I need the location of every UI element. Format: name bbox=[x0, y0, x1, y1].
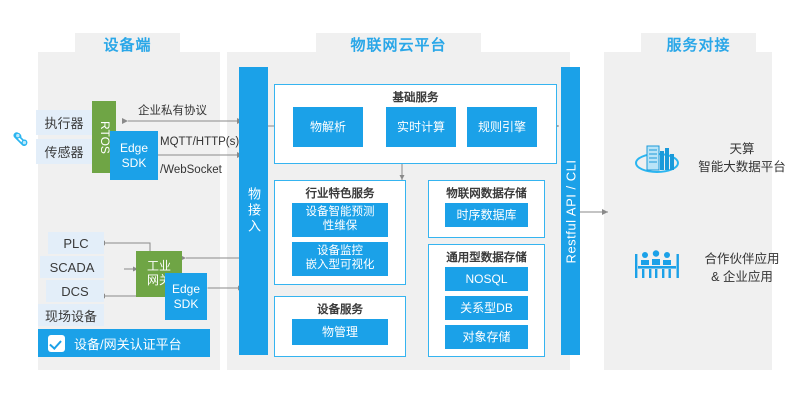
label-private-protocol: 企业私有协议 bbox=[138, 102, 207, 118]
service-entry-line1: 天算 bbox=[690, 140, 794, 158]
service-entry-label-bigdata: 天算 智能大数据平台 bbox=[690, 140, 802, 176]
group-device-service: 设备服务 物管理 bbox=[274, 296, 406, 357]
group-general-storage-title: 通用型数据存储 bbox=[429, 249, 544, 265]
panel-service-side bbox=[604, 52, 772, 370]
group-device-service-title: 设备服务 bbox=[275, 301, 405, 317]
service-entry-line2: & 企业应用 bbox=[690, 268, 794, 286]
cloud-link-icon bbox=[10, 127, 34, 151]
service-realtime-compute[interactable]: 实时计算 bbox=[386, 107, 456, 147]
storage-object-storage[interactable]: 对象存储 bbox=[445, 325, 528, 349]
group-base-service: 基础服务 物解析 实时计算 规则引擎 bbox=[274, 84, 557, 164]
egress-bar-restful-api[interactable]: Restful API / CLI bbox=[561, 67, 580, 355]
device-endpoint-actuator[interactable]: 执行器 bbox=[36, 110, 92, 135]
service-predictive-maintenance[interactable]: 设备智能预测 性维保 bbox=[292, 203, 388, 237]
auth-platform-label: 设备/网关认证平台 bbox=[74, 334, 182, 353]
storage-timeseries-db[interactable]: 时序数据库 bbox=[445, 203, 528, 227]
service-rule-engine[interactable]: 规则引擎 bbox=[467, 107, 537, 147]
service-thing-parse[interactable]: 物解析 bbox=[293, 107, 363, 147]
source-field-device[interactable]: 现场设备 bbox=[38, 304, 104, 326]
edge-sdk-gateway-box[interactable]: Edge SDK bbox=[165, 273, 207, 320]
device-endpoint-sensor[interactable]: 传感器 bbox=[36, 139, 92, 164]
source-scada[interactable]: SCADA bbox=[40, 256, 104, 278]
edge-sdk-device-box[interactable]: Edge SDK bbox=[110, 131, 158, 180]
device-auth-platform-bar[interactable]: 设备/网关认证平台 bbox=[38, 329, 210, 357]
label-websocket: /WebSocket bbox=[160, 164, 222, 176]
service-device-monitor-visualization[interactable]: 设备监控 嵌入型可视化 bbox=[292, 242, 388, 276]
service-thing-management[interactable]: 物管理 bbox=[292, 319, 388, 345]
diagram-canvas: 设备端 物联网云平台 服务对接 bbox=[0, 0, 802, 411]
check-icon bbox=[48, 335, 65, 352]
group-industry-service-title: 行业特色服务 bbox=[275, 185, 405, 201]
section-title-service: 服务对接 bbox=[641, 33, 756, 59]
service-entry-line2: 智能大数据平台 bbox=[690, 158, 794, 176]
group-industry-service: 行业特色服务 设备智能预测 性维保 设备监控 嵌入型可视化 bbox=[274, 180, 406, 285]
group-iot-storage: 物联网数据存储 时序数据库 bbox=[428, 180, 545, 238]
ingress-bar-label: 物接入 bbox=[244, 187, 263, 235]
group-general-storage: 通用型数据存储 NOSQL 关系型DB 对象存储 bbox=[428, 244, 545, 357]
egress-bar-label: Restful API / CLI bbox=[563, 159, 578, 263]
source-dcs[interactable]: DCS bbox=[46, 280, 104, 302]
group-iot-storage-title: 物联网数据存储 bbox=[429, 185, 544, 201]
ingress-bar-iot-hub[interactable]: 物接入 bbox=[239, 67, 268, 355]
storage-relational-db[interactable]: 关系型DB bbox=[445, 296, 528, 320]
service-entry-label-partner: 合作伙伴应用 & 企业应用 bbox=[690, 250, 802, 286]
source-plc[interactable]: PLC bbox=[48, 232, 104, 254]
storage-nosql[interactable]: NOSQL bbox=[445, 267, 528, 291]
label-mqtt-http: MQTT/HTTP(s) bbox=[160, 136, 239, 148]
section-title-platform: 物联网云平台 bbox=[316, 33, 481, 59]
big-data-platform-icon bbox=[633, 137, 681, 179]
section-title-device: 设备端 bbox=[75, 33, 180, 59]
group-base-service-title: 基础服务 bbox=[275, 89, 556, 105]
service-entry-line1: 合作伙伴应用 bbox=[690, 250, 794, 268]
partner-meeting-icon bbox=[633, 248, 681, 286]
